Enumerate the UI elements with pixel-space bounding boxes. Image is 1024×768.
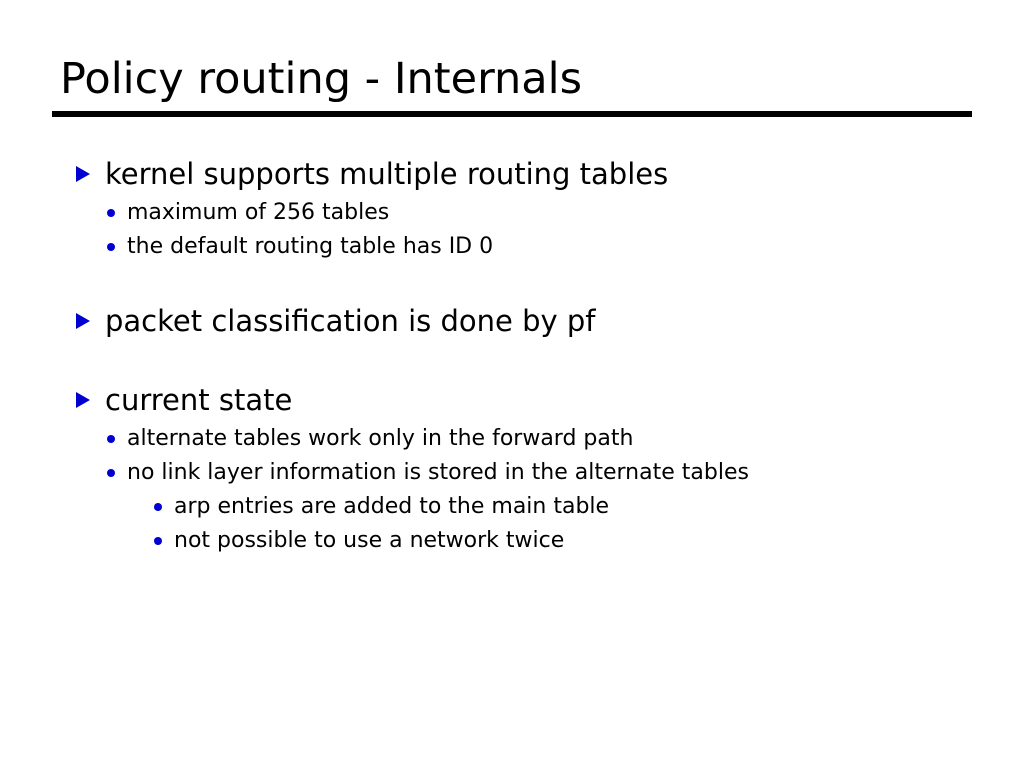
- outline-group: kernel supports multiple routing tables …: [0, 152, 1024, 264]
- list-item-label: packet classification is done by pf: [105, 304, 596, 338]
- dot-bullet-icon: [154, 490, 166, 524]
- triangle-bullet-icon: [76, 152, 96, 196]
- list-item-level2: alternate tables work only in the forwar…: [0, 422, 1024, 456]
- list-item-label: alternate tables work only in the forwar…: [127, 426, 633, 451]
- triangle-bullet-icon: [76, 378, 96, 422]
- dot-bullet-icon: [107, 422, 119, 456]
- page-title: Policy routing - Internals: [60, 53, 582, 105]
- list-item-level2: maximum of 256 tables: [0, 196, 1024, 230]
- list-item-level1: kernel supports multiple routing tables: [0, 152, 1024, 196]
- list-item-label: no link layer information is stored in t…: [127, 460, 749, 485]
- list-item-level2: the default routing table has ID 0: [0, 230, 1024, 264]
- list-item-label: current state: [105, 383, 292, 417]
- list-item-level2: no link layer information is stored in t…: [0, 456, 1024, 490]
- slide-body-outline: kernel supports multiple routing tables …: [0, 152, 1024, 558]
- title-divider: [52, 111, 972, 117]
- dot-bullet-icon: [154, 524, 166, 558]
- list-item-label: the default routing table has ID 0: [127, 234, 493, 259]
- list-item-level1: packet classification is done by pf: [0, 299, 1024, 343]
- list-item-level3: arp entries are added to the main table: [0, 490, 1024, 524]
- dot-bullet-icon: [107, 456, 119, 490]
- triangle-bullet-icon: [76, 299, 96, 343]
- list-item-level3: not possible to use a network twice: [0, 524, 1024, 558]
- outline-group: packet classification is done by pf: [0, 299, 1024, 343]
- list-item-label: maximum of 256 tables: [127, 200, 389, 225]
- list-item-label: not possible to use a network twice: [174, 528, 564, 553]
- list-item-level1: current state: [0, 378, 1024, 422]
- dot-bullet-icon: [107, 230, 119, 264]
- slide-canvas: Policy routing - Internals kernel suppor…: [0, 0, 1024, 768]
- list-item-label: arp entries are added to the main table: [174, 494, 609, 519]
- dot-bullet-icon: [107, 196, 119, 230]
- list-item-label: kernel supports multiple routing tables: [105, 157, 668, 191]
- outline-group: current state alternate tables work only…: [0, 378, 1024, 558]
